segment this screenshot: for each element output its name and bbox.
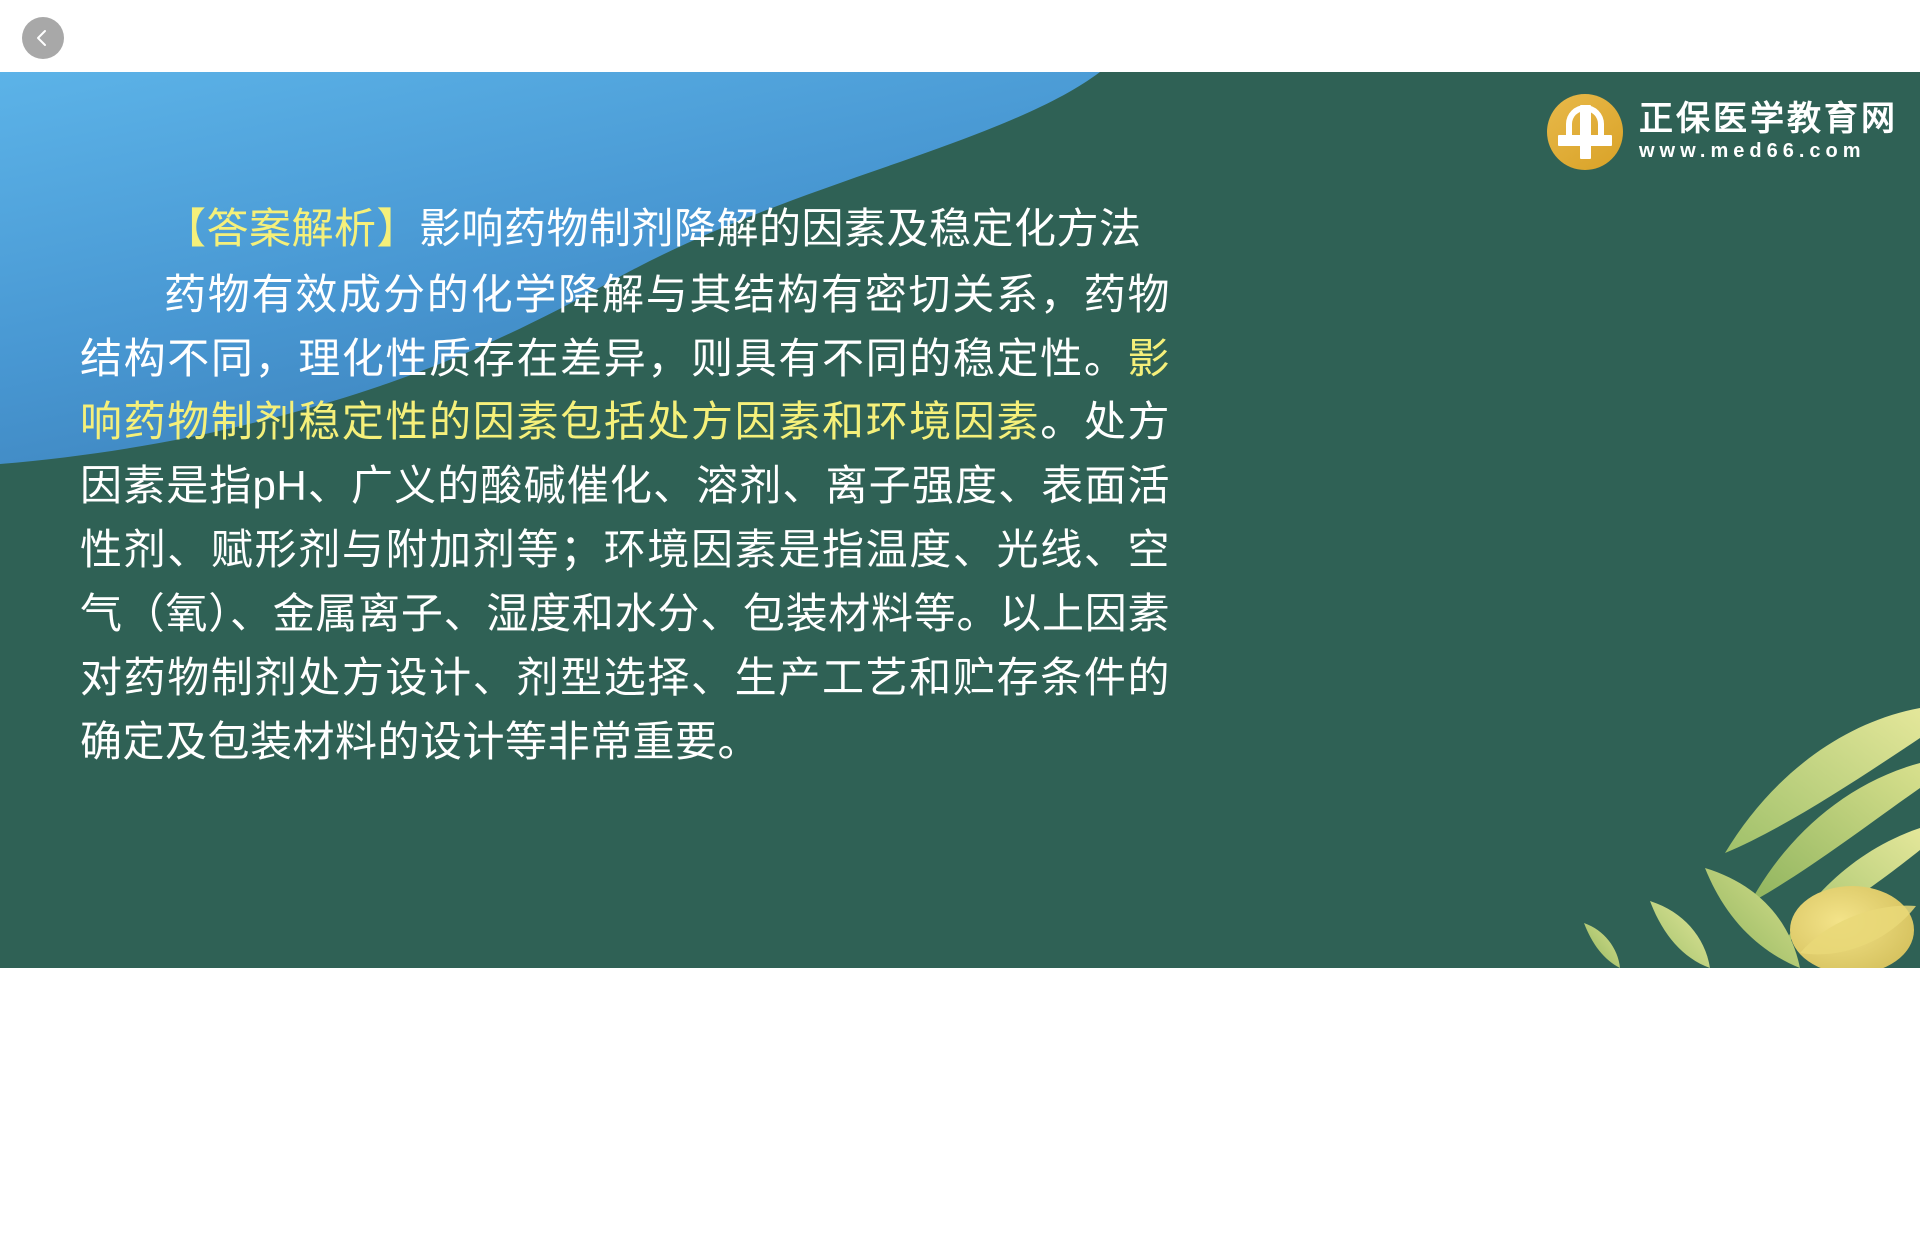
slide-content: 【答案解析】影响药物制剂降解的因素及稳定化方法 药物有效成分的化学降解与其结构有… bbox=[80, 197, 1170, 773]
back-button[interactable] bbox=[22, 17, 64, 59]
brand-name: 正保医学教育网 bbox=[1639, 102, 1898, 138]
answer-analysis-heading: 【答案解析】影响药物制剂降解的因素及稳定化方法 bbox=[80, 197, 1170, 261]
answer-analysis-title: 影响药物制剂降解的因素及稳定化方法 bbox=[419, 205, 1142, 252]
brand-logo: 正保医学教育网 www.med66.com bbox=[1547, 94, 1898, 170]
brand-logo-text: 正保医学教育网 www.med66.com bbox=[1639, 102, 1898, 162]
chevron-left-icon bbox=[35, 28, 52, 48]
slide-canvas: 正保医学教育网 www.med66.com 【答案解析】影响药物制剂降解的因素及… bbox=[0, 72, 1920, 968]
top-bar bbox=[0, 0, 1920, 72]
bottom-bar bbox=[0, 968, 1920, 1256]
answer-analysis-label: 【答案解析】 bbox=[164, 205, 419, 252]
answer-analysis-body: 药物有效成分的化学降解与其结构有密切关系，药物结构不同，理化性质存在差异，则具有… bbox=[80, 263, 1170, 774]
leaf-decoration bbox=[1500, 668, 1920, 968]
med66-cross-logo-icon bbox=[1547, 94, 1623, 170]
brand-url: www.med66.com bbox=[1639, 141, 1898, 162]
body-part-2: 。处方因素是指pH、广义的酸碱催化、溶剂、离子强度、表面活性剂、赋形剂与附加剂等… bbox=[80, 398, 1170, 764]
body-part-1: 药物有效成分的化学降解与其结构有密切关系，药物结构不同，理化性质存在差异，则具有… bbox=[80, 271, 1170, 382]
